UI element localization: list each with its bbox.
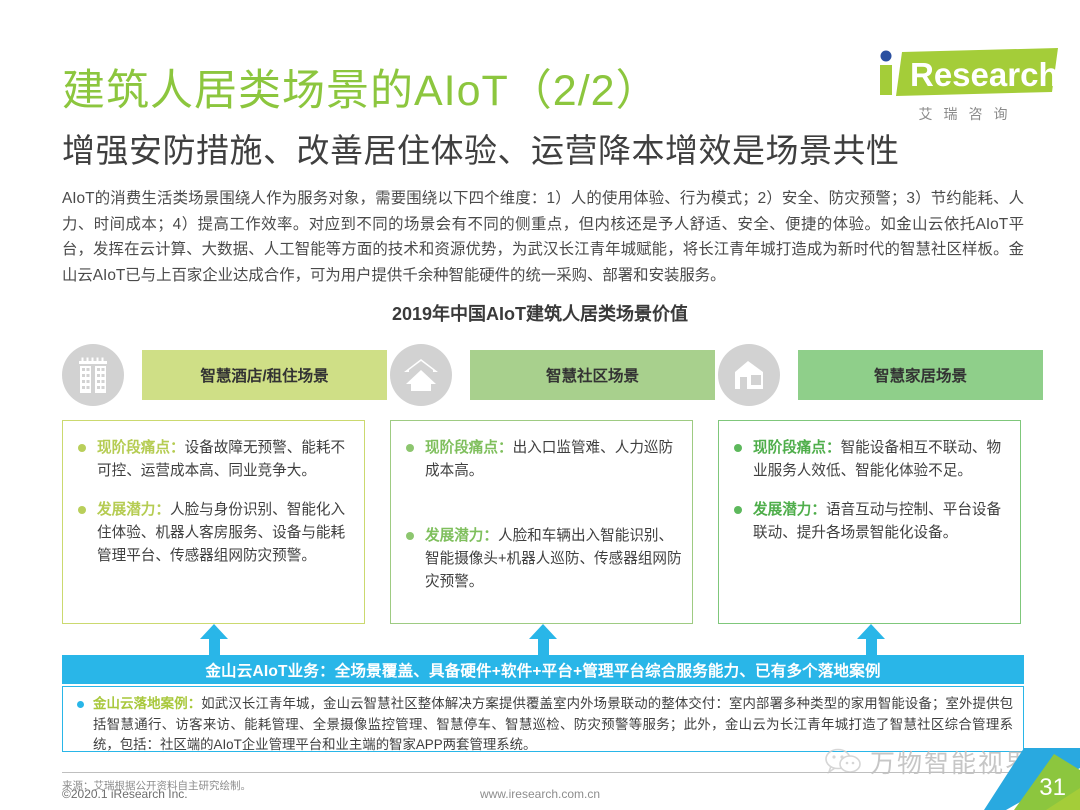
chart-title: 2019年中国AIoT建筑人居类场景价值 (0, 300, 1080, 326)
smart-home-icon (718, 344, 780, 406)
up-arrow-icon-2 (529, 624, 557, 658)
bullet-item: 发展潜力：人脸和车辆出入智能识别、智能摄像头+机器人巡防、传感器组网防灾预警。 (403, 483, 682, 594)
kingsoft-aiot-bar: 金山云AIoT业务：全场景覆盖、具备硬件+软件+平台+管理平台综合服务能力、已有… (62, 655, 1024, 684)
hotel-building-icon (62, 344, 124, 406)
scenario-column-hotel: 智慧酒店/租住场景 现阶段痛点：设备故障无预警、能耗不可控、运营成本高、同业竞争… (62, 344, 367, 630)
scenario-column-smarthome: 智慧家居场景 现阶段痛点：智能设备相互不联动、物业服务人效低、智能化体验不足。 … (718, 344, 1023, 630)
case-study-box: 金山云落地案例：如武汉长江青年城，金山云智慧社区整体解决方案提供覆盖室内外场景联… (62, 686, 1024, 752)
bullet-item: 现阶段痛点：智能设备相互不联动、物业服务人效低、智能化体验不足。 (731, 421, 1010, 483)
bullet-key: 发展潜力： (97, 502, 170, 518)
bullet-key: 现阶段痛点： (425, 440, 513, 456)
website-url: www.iresearch.com.cn (0, 787, 1080, 801)
column-header: 智慧家居场景 (718, 344, 1023, 406)
logo-mark: Research (866, 46, 1062, 98)
bullet-key: 现阶段痛点： (753, 440, 841, 456)
column-content-box: 现阶段痛点：智能设备相互不联动、物业服务人效低、智能化体验不足。 发展潜力：语音… (718, 420, 1021, 624)
footer-divider (62, 772, 1024, 773)
column-header: 智慧酒店/租住场景 (62, 344, 367, 406)
bullet-key: 发展潜力： (425, 528, 498, 544)
community-house-icon (390, 344, 452, 406)
page-subtitle: 增强安防措施、改善居住体验、运营降本增效是场景共性 (62, 124, 900, 172)
bullet-item: 现阶段痛点：设备故障无预警、能耗不可控、运营成本高、同业竞争大。 (75, 421, 354, 483)
bullet-dot-icon (406, 532, 414, 540)
bullet-dot-icon (734, 506, 742, 514)
bullet-dot-icon (78, 444, 86, 452)
column-label-smarthome: 智慧家居场景 (798, 350, 1043, 400)
up-arrow-icon-3 (857, 624, 885, 658)
bullet-dot-icon (734, 444, 742, 452)
bullet-item: 发展潜力：人脸与身份识别、智能化入住体验、机器人客房服务、设备与能耗管理平台、传… (75, 483, 354, 568)
bullet-item: 发展潜力：语音互动与控制、平台设备联动、提升各场景智能化设备。 (731, 483, 1010, 545)
body-paragraph: AIoT的消费生活类场景围绕人作为服务对象，需要围绕以下四个维度：1）人的使用体… (62, 186, 1024, 288)
bullet-dot-icon (406, 444, 414, 452)
bullet-item: 现阶段痛点：出入口监管难、人力巡防成本高。 (403, 421, 682, 483)
column-label-hotel: 智慧酒店/租住场景 (142, 350, 387, 400)
column-content-box: 现阶段痛点：设备故障无预警、能耗不可控、运营成本高、同业竞争大。 发展潜力：人脸… (62, 420, 365, 624)
logo-text-cn: 艾瑞咨询 (866, 104, 1062, 124)
slide-root: 建筑人居类场景的AIoT（2/2） 增强安防措施、改善居住体验、运营降本增效是场… (0, 0, 1080, 810)
bullet-dot-icon (78, 506, 86, 514)
column-header: 智慧社区场景 (390, 344, 695, 406)
up-arrow-icon-1 (200, 624, 228, 658)
column-content-box: 现阶段痛点：出入口监管难、人力巡防成本高。 发展潜力：人脸和车辆出入智能识别、智… (390, 420, 693, 624)
bullet-key: 发展潜力： (753, 502, 826, 518)
column-label-community: 智慧社区场景 (470, 350, 715, 400)
scenario-column-community: 智慧社区场景 现阶段痛点：出入口监管难、人力巡防成本高。 发展潜力：人脸和车辆出… (390, 344, 695, 630)
case-study-key: 金山云落地案例： (93, 696, 201, 711)
iresearch-logo: Research 艾瑞咨询 (866, 46, 1062, 126)
svg-text:Research: Research (910, 56, 1059, 93)
scenario-columns: 智慧酒店/租住场景 现阶段痛点：设备故障无预警、能耗不可控、运营成本高、同业竞争… (62, 344, 1024, 630)
bullet-key: 现阶段痛点： (97, 440, 185, 456)
page-title: 建筑人居类场景的AIoT（2/2） (62, 56, 660, 118)
page-number: 31 (1039, 774, 1066, 802)
bullet-dot-icon (77, 701, 84, 708)
